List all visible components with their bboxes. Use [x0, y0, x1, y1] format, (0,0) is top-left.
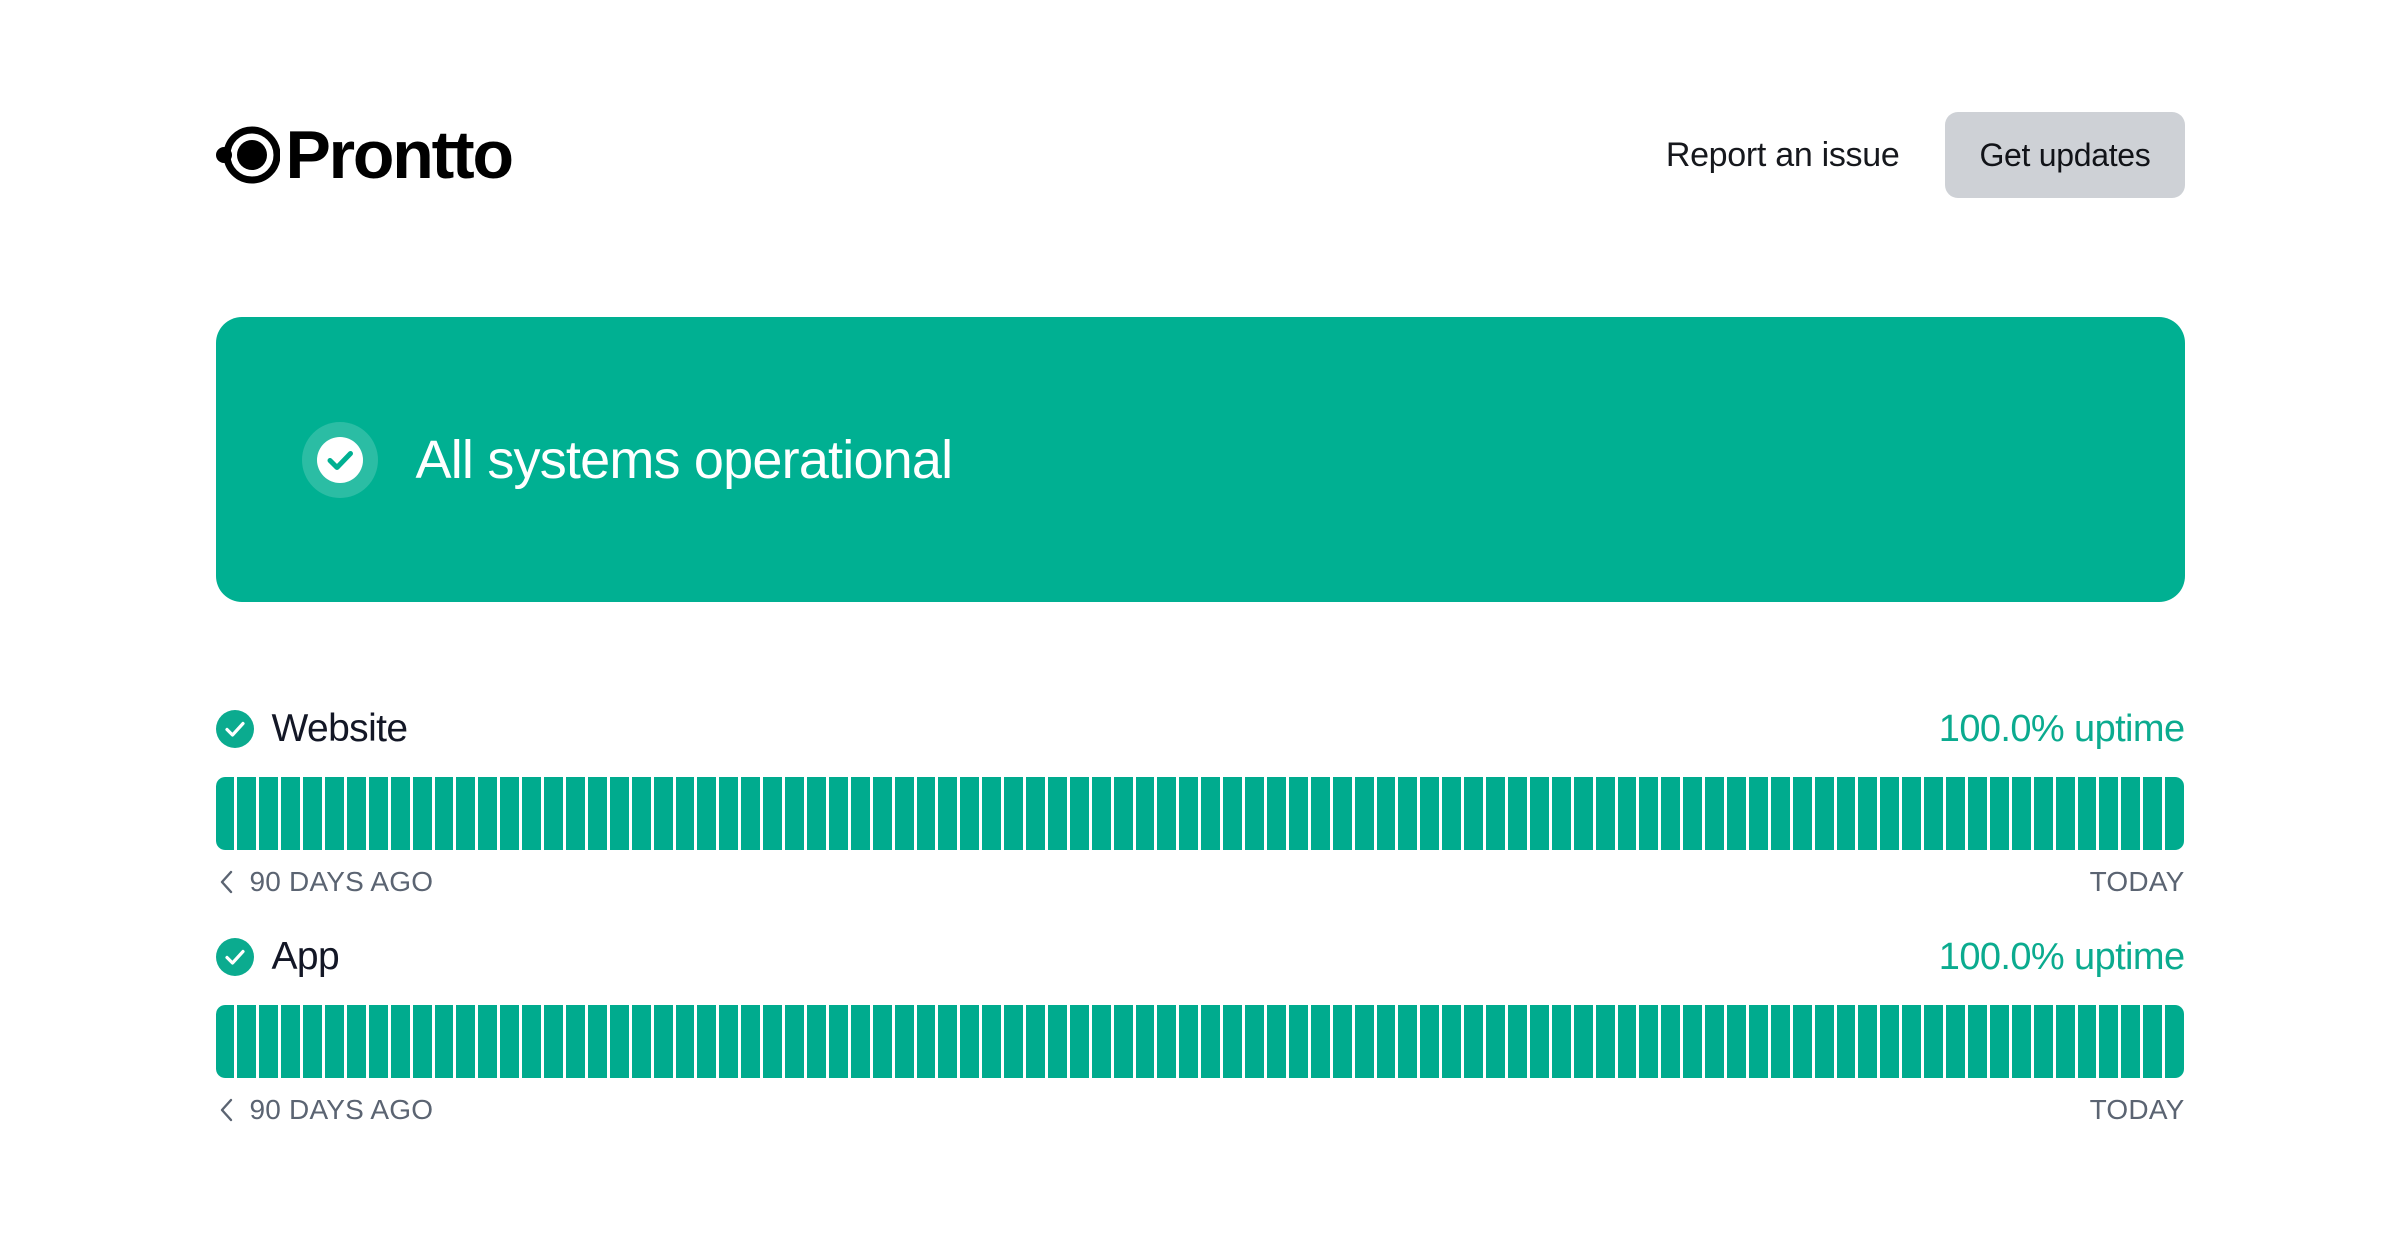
uptime-segment[interactable]: [1267, 777, 1286, 850]
service-uptime: 100.0% uptime: [1939, 708, 2185, 751]
uptime-segment[interactable]: [676, 1005, 695, 1078]
uptime-segment[interactable]: [237, 1005, 256, 1078]
service-name: Website: [272, 707, 408, 751]
uptime-segment[interactable]: [1683, 777, 1702, 850]
uptime-segment[interactable]: [1946, 777, 1965, 850]
uptime-segment[interactable]: [785, 1005, 804, 1078]
uptime-segment[interactable]: [1377, 777, 1396, 850]
get-updates-button[interactable]: Get updates: [1945, 112, 2184, 198]
uptime-segment[interactable]: [1990, 777, 2009, 850]
uptime-segment[interactable]: [1442, 777, 1461, 850]
service-header: Website 100.0% uptime: [216, 707, 2185, 751]
uptime-segment[interactable]: [1267, 1005, 1286, 1078]
service-header: App 100.0% uptime: [216, 935, 2185, 979]
uptime-segment[interactable]: [654, 777, 673, 850]
uptime-segment[interactable]: [982, 1005, 1001, 1078]
uptime-segment[interactable]: [1902, 777, 1921, 850]
uptime-segment[interactable]: [413, 777, 432, 850]
uptime-segment[interactable]: [1880, 777, 1899, 850]
uptime-segment[interactable]: [2056, 777, 2075, 850]
uptime-segment[interactable]: [2099, 1005, 2118, 1078]
uptime-segment[interactable]: [1048, 777, 1067, 850]
uptime-segment[interactable]: [325, 1005, 344, 1078]
uptime-segment[interactable]: [610, 1005, 629, 1078]
uptime-segment[interactable]: [938, 1005, 957, 1078]
check-circle-icon: [216, 710, 254, 748]
uptime-segment[interactable]: [1355, 777, 1374, 850]
uptime-segment[interactable]: [1705, 777, 1724, 850]
uptime-segment[interactable]: [2165, 1005, 2184, 1078]
uptime-segment[interactable]: [281, 777, 300, 850]
uptime-segment[interactable]: [1639, 777, 1658, 850]
service-name: App: [272, 935, 340, 979]
brand-logo[interactable]: Prontto: [216, 121, 512, 189]
uptime-segment[interactable]: [216, 1005, 235, 1078]
uptime-segment[interactable]: [369, 777, 388, 850]
uptime-segment[interactable]: [1508, 1005, 1527, 1078]
uptime-segment[interactable]: [1048, 1005, 1067, 1078]
uptime-segment[interactable]: [1946, 1005, 1965, 1078]
uptime-segment[interactable]: [1618, 777, 1637, 850]
uptime-segment[interactable]: [1705, 1005, 1724, 1078]
uptime-segment[interactable]: [1530, 777, 1549, 850]
uptime-segment[interactable]: [1442, 1005, 1461, 1078]
uptime-segment[interactable]: [1179, 777, 1198, 850]
uptime-segment[interactable]: [982, 777, 1001, 850]
uptime-segment[interactable]: [1333, 1005, 1352, 1078]
uptime-segment[interactable]: [1771, 777, 1790, 850]
uptime-segment[interactable]: [588, 1005, 607, 1078]
uptime-segment[interactable]: [478, 1005, 497, 1078]
uptime-segment[interactable]: [435, 777, 454, 850]
uptime-segment[interactable]: [500, 1005, 519, 1078]
uptime-segment[interactable]: [325, 777, 344, 850]
uptime-bar-chart[interactable]: [216, 1005, 2185, 1078]
uptime-segment[interactable]: [1815, 1005, 1834, 1078]
uptime-segment[interactable]: [807, 1005, 826, 1078]
uptime-segment[interactable]: [1990, 1005, 2009, 1078]
uptime-segment[interactable]: [1749, 1005, 1768, 1078]
uptime-segment[interactable]: [1639, 1005, 1658, 1078]
uptime-segment[interactable]: [1026, 777, 1045, 850]
uptime-segment[interactable]: [456, 777, 475, 850]
uptime-segment[interactable]: [1880, 1005, 1899, 1078]
uptime-segment[interactable]: [259, 777, 278, 850]
uptime-segment[interactable]: [632, 777, 651, 850]
uptime-segment[interactable]: [1837, 1005, 1856, 1078]
uptime-segment[interactable]: [347, 1005, 366, 1078]
uptime-segment[interactable]: [2056, 1005, 2075, 1078]
uptime-segment[interactable]: [1858, 1005, 1877, 1078]
uptime-segment[interactable]: [851, 777, 870, 850]
uptime-segment[interactable]: [1924, 777, 1943, 850]
uptime-segment[interactable]: [1902, 1005, 1921, 1078]
uptime-segment[interactable]: [1420, 777, 1439, 850]
uptime-segment[interactable]: [697, 777, 716, 850]
uptime-segment[interactable]: [1377, 1005, 1396, 1078]
uptime-segment[interactable]: [1136, 777, 1155, 850]
uptime-segment[interactable]: [917, 1005, 936, 1078]
uptime-segment[interactable]: [1596, 1005, 1615, 1078]
uptime-segment[interactable]: [2099, 777, 2118, 850]
uptime-segment[interactable]: [1070, 777, 1089, 850]
uptime-segment[interactable]: [1837, 777, 1856, 850]
uptime-segment[interactable]: [1092, 1005, 1111, 1078]
uptime-segment[interactable]: [1223, 777, 1242, 850]
uptime-segment[interactable]: [2012, 777, 2031, 850]
uptime-segment[interactable]: [851, 1005, 870, 1078]
uptime-segment[interactable]: [960, 777, 979, 850]
uptime-segment[interactable]: [2078, 777, 2097, 850]
uptime-segment[interactable]: [2121, 1005, 2140, 1078]
uptime-segment[interactable]: [873, 1005, 892, 1078]
uptime-segment[interactable]: [1661, 1005, 1680, 1078]
overall-status-banner: All systems operational: [216, 317, 2185, 602]
service-identity: Website: [216, 707, 408, 751]
uptime-segment[interactable]: [522, 777, 541, 850]
uptime-segment[interactable]: [1464, 777, 1483, 850]
uptime-segment[interactable]: [1398, 777, 1417, 850]
uptime-segment[interactable]: [2034, 777, 2053, 850]
uptime-segment[interactable]: [654, 1005, 673, 1078]
uptime-segment[interactable]: [500, 777, 519, 850]
uptime-segment[interactable]: [1289, 1005, 1308, 1078]
uptime-segment[interactable]: [719, 1005, 738, 1078]
uptime-segment[interactable]: [522, 1005, 541, 1078]
uptime-segment[interactable]: [1793, 1005, 1812, 1078]
uptime-segment[interactable]: [917, 777, 936, 850]
uptime-segment[interactable]: [2012, 1005, 2031, 1078]
uptime-segment[interactable]: [829, 777, 848, 850]
uptime-segment[interactable]: [1508, 777, 1527, 850]
uptime-segment[interactable]: [895, 777, 914, 850]
uptime-segment[interactable]: [763, 777, 782, 850]
uptime-segment[interactable]: [1223, 1005, 1242, 1078]
uptime-segment[interactable]: [1464, 1005, 1483, 1078]
uptime-segment[interactable]: [1661, 777, 1680, 850]
uptime-segment[interactable]: [1398, 1005, 1417, 1078]
uptime-segment[interactable]: [2165, 777, 2184, 850]
uptime-segment[interactable]: [632, 1005, 651, 1078]
uptime-segment[interactable]: [1004, 777, 1023, 850]
uptime-segment[interactable]: [1004, 1005, 1023, 1078]
uptime-segment[interactable]: [435, 1005, 454, 1078]
uptime-range-footer: 90 DAYS AGO TODAY: [216, 866, 2185, 898]
header-actions: Report an issue Get updates: [1666, 112, 2185, 198]
uptime-segment[interactable]: [719, 777, 738, 850]
uptime-segment[interactable]: [588, 777, 607, 850]
range-start-label: 90 DAYS AGO: [250, 1094, 434, 1126]
uptime-segment[interactable]: [1333, 777, 1352, 850]
uptime-segment[interactable]: [1486, 777, 1505, 850]
uptime-segment[interactable]: [566, 777, 585, 850]
check-circle-icon: [216, 938, 254, 976]
uptime-segment[interactable]: [1727, 777, 1746, 850]
uptime-segment[interactable]: [1552, 1005, 1571, 1078]
uptime-segment[interactable]: [829, 1005, 848, 1078]
uptime-segment[interactable]: [1574, 777, 1593, 850]
range-start-group[interactable]: 90 DAYS AGO: [216, 1094, 434, 1126]
uptime-segment[interactable]: [676, 777, 695, 850]
uptime-segment[interactable]: [478, 777, 497, 850]
uptime-segment[interactable]: [741, 777, 760, 850]
uptime-segment[interactable]: [391, 777, 410, 850]
uptime-segment[interactable]: [1026, 1005, 1045, 1078]
service-row: App 100.0% uptime 90 DAYS AGO TODAY: [216, 935, 2185, 1126]
uptime-segment[interactable]: [2121, 777, 2140, 850]
uptime-segment[interactable]: [2143, 1005, 2162, 1078]
services-list: Website 100.0% uptime 90 DAYS AGO TODAY: [216, 707, 2185, 1126]
uptime-segment[interactable]: [1157, 777, 1176, 850]
uptime-segment[interactable]: [369, 1005, 388, 1078]
uptime-segment[interactable]: [303, 777, 322, 850]
orbit-circle-icon: [216, 123, 280, 187]
uptime-segment[interactable]: [391, 1005, 410, 1078]
uptime-segment[interactable]: [1289, 777, 1308, 850]
uptime-segment[interactable]: [259, 1005, 278, 1078]
uptime-segment[interactable]: [1596, 777, 1615, 850]
uptime-segment[interactable]: [697, 1005, 716, 1078]
uptime-segment[interactable]: [347, 777, 366, 850]
uptime-segment[interactable]: [544, 1005, 563, 1078]
report-an-issue-link[interactable]: Report an issue: [1666, 136, 1900, 175]
range-start-group[interactable]: 90 DAYS AGO: [216, 866, 434, 898]
service-identity: App: [216, 935, 340, 979]
overall-status-text: All systems operational: [416, 429, 953, 491]
uptime-segment[interactable]: [544, 777, 563, 850]
uptime-bar-chart[interactable]: [216, 777, 2185, 850]
uptime-range-footer: 90 DAYS AGO TODAY: [216, 1094, 2185, 1126]
uptime-segment[interactable]: [281, 1005, 300, 1078]
uptime-segment[interactable]: [456, 1005, 475, 1078]
uptime-segment[interactable]: [413, 1005, 432, 1078]
uptime-segment[interactable]: [1793, 777, 1812, 850]
range-end-label: TODAY: [2090, 1094, 2185, 1126]
service-row: Website 100.0% uptime 90 DAYS AGO TODAY: [216, 707, 2185, 898]
brand-name: Prontto: [286, 121, 512, 189]
uptime-segment[interactable]: [1092, 777, 1111, 850]
chevron-left-icon[interactable]: [216, 868, 237, 896]
uptime-segment[interactable]: [1924, 1005, 1943, 1078]
uptime-segment[interactable]: [1355, 1005, 1374, 1078]
uptime-segment[interactable]: [741, 1005, 760, 1078]
uptime-segment[interactable]: [807, 777, 826, 850]
service-uptime: 100.0% uptime: [1939, 936, 2185, 979]
uptime-segment[interactable]: [1486, 1005, 1505, 1078]
range-start-label: 90 DAYS AGO: [250, 866, 434, 898]
uptime-segment[interactable]: [1618, 1005, 1637, 1078]
uptime-segment[interactable]: [785, 777, 804, 850]
uptime-segment[interactable]: [1552, 777, 1571, 850]
uptime-segment[interactable]: [895, 1005, 914, 1078]
chevron-left-icon[interactable]: [216, 1096, 237, 1124]
status-page: Prontto Report an issue Get updates All …: [0, 0, 2400, 1260]
uptime-segment[interactable]: [1136, 1005, 1155, 1078]
uptime-segment[interactable]: [1530, 1005, 1549, 1078]
uptime-segment[interactable]: [873, 777, 892, 850]
uptime-segment[interactable]: [1179, 1005, 1198, 1078]
uptime-segment[interactable]: [2034, 1005, 2053, 1078]
uptime-segment[interactable]: [1157, 1005, 1176, 1078]
uptime-segment[interactable]: [938, 777, 957, 850]
uptime-segment[interactable]: [1245, 1005, 1264, 1078]
uptime-segment[interactable]: [1311, 777, 1330, 850]
uptime-segment[interactable]: [303, 1005, 322, 1078]
uptime-segment[interactable]: [1727, 1005, 1746, 1078]
uptime-segment[interactable]: [237, 777, 256, 850]
uptime-segment[interactable]: [1245, 777, 1264, 850]
uptime-segment[interactable]: [1749, 777, 1768, 850]
uptime-segment[interactable]: [1968, 777, 1987, 850]
uptime-segment[interactable]: [763, 1005, 782, 1078]
uptime-segment[interactable]: [1201, 1005, 1220, 1078]
uptime-segment[interactable]: [1815, 777, 1834, 850]
uptime-segment[interactable]: [1771, 1005, 1790, 1078]
uptime-segment[interactable]: [960, 1005, 979, 1078]
uptime-segment[interactable]: [1683, 1005, 1702, 1078]
uptime-segment[interactable]: [566, 1005, 585, 1078]
uptime-segment[interactable]: [1311, 1005, 1330, 1078]
uptime-segment[interactable]: [1114, 1005, 1133, 1078]
uptime-segment[interactable]: [1420, 1005, 1439, 1078]
uptime-segment[interactable]: [216, 777, 235, 850]
uptime-segment[interactable]: [1201, 777, 1220, 850]
uptime-segment[interactable]: [1574, 1005, 1593, 1078]
range-end-label: TODAY: [2090, 866, 2185, 898]
uptime-segment[interactable]: [2143, 777, 2162, 850]
uptime-segment[interactable]: [1114, 777, 1133, 850]
uptime-segment[interactable]: [1968, 1005, 1987, 1078]
page-header: Prontto Report an issue Get updates: [216, 0, 2185, 198]
uptime-segment[interactable]: [610, 777, 629, 850]
uptime-segment[interactable]: [1070, 1005, 1089, 1078]
check-circle-icon: [302, 422, 378, 498]
page-container: Prontto Report an issue Get updates All …: [216, 0, 2185, 1126]
uptime-segment[interactable]: [2078, 1005, 2097, 1078]
uptime-segment[interactable]: [1858, 777, 1877, 850]
